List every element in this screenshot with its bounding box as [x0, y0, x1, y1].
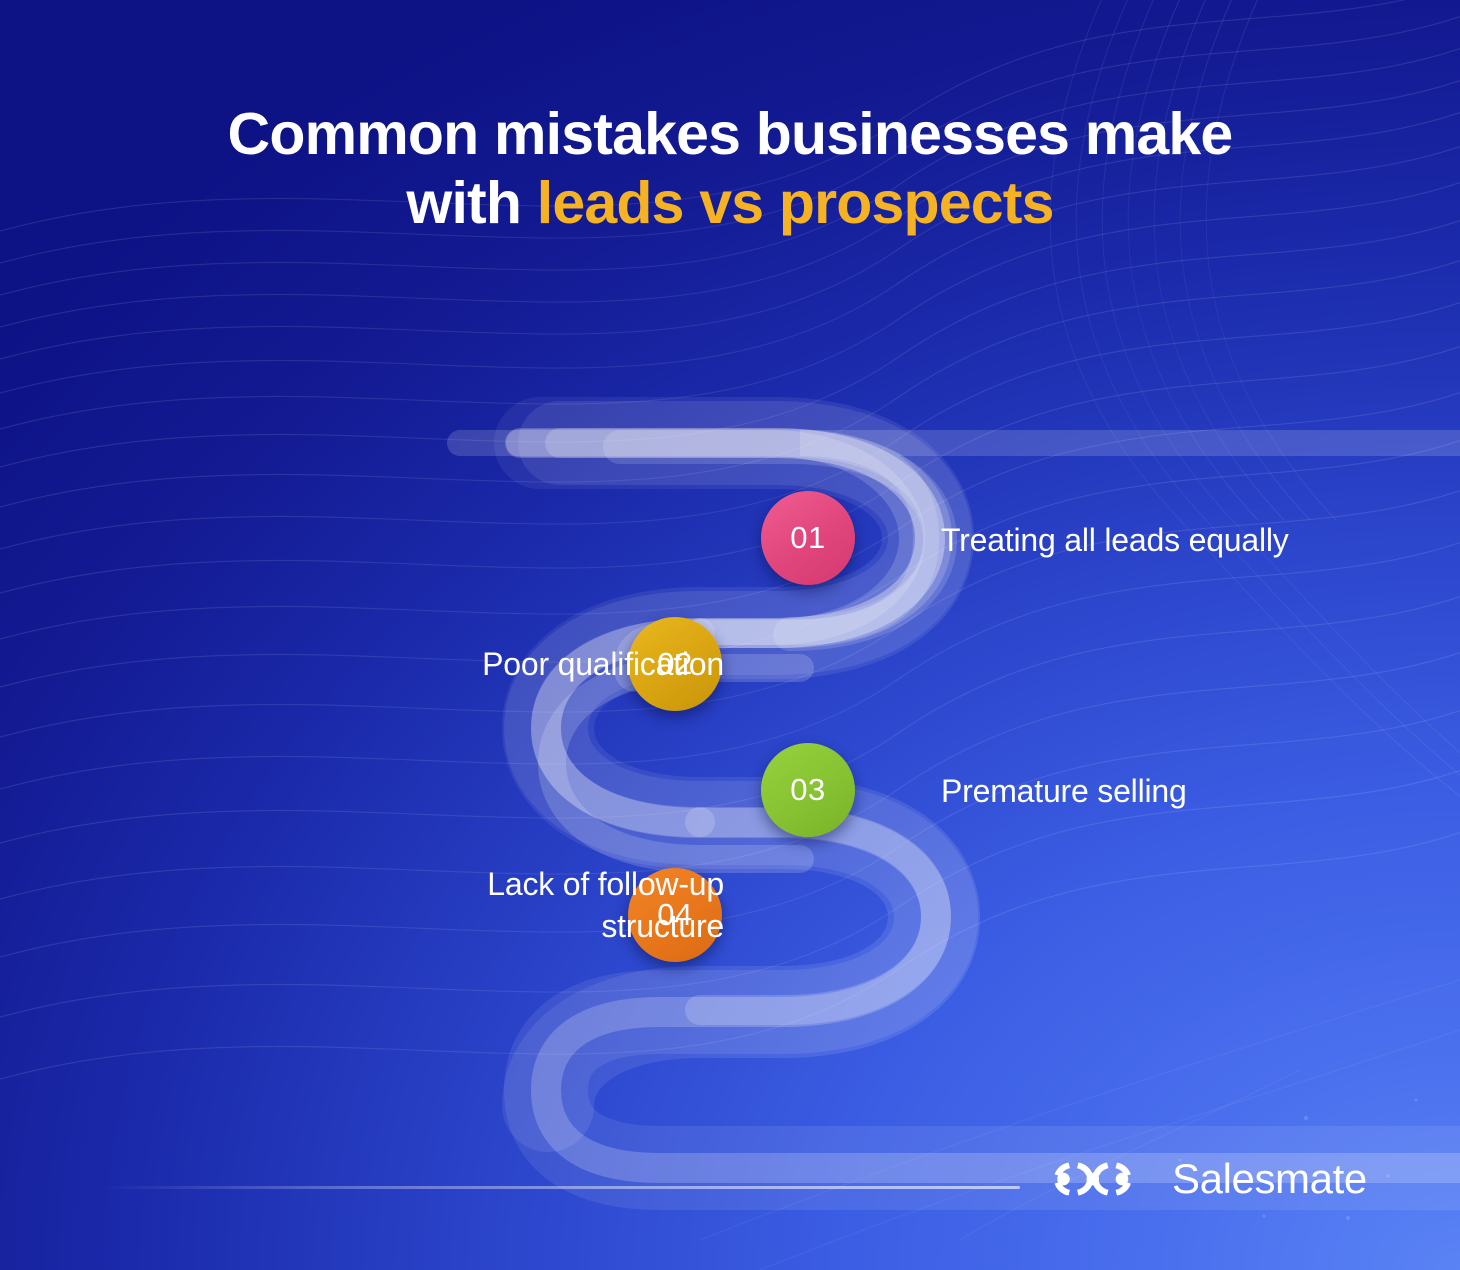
steps-diagram: 01 02 03 04 Treating all leads equally P… [0, 0, 1460, 1270]
step-node-01[interactable]: 01 [761, 491, 855, 585]
brand-name: Salesmate [1172, 1155, 1367, 1203]
step-label-04: Lack of follow-up structure [394, 863, 724, 947]
step-label-01: Treating all leads equally [941, 519, 1289, 561]
step-label-03: Premature selling [941, 770, 1187, 812]
serpentine-path-connector [0, 0, 1460, 1270]
footer-divider [100, 1186, 1020, 1189]
ribbon-track [0, 0, 1460, 1270]
step-number-03: 03 [790, 772, 825, 808]
brand-logo: Salesmate [1050, 1155, 1367, 1203]
salesmate-chain-logo-icon [1050, 1156, 1150, 1202]
step-label-02: Poor qualification [482, 643, 724, 685]
step-node-03[interactable]: 03 [761, 743, 855, 837]
step-number-01: 01 [790, 520, 825, 556]
infographic-canvas: Common mistakes businesses make with lea… [0, 0, 1460, 1270]
